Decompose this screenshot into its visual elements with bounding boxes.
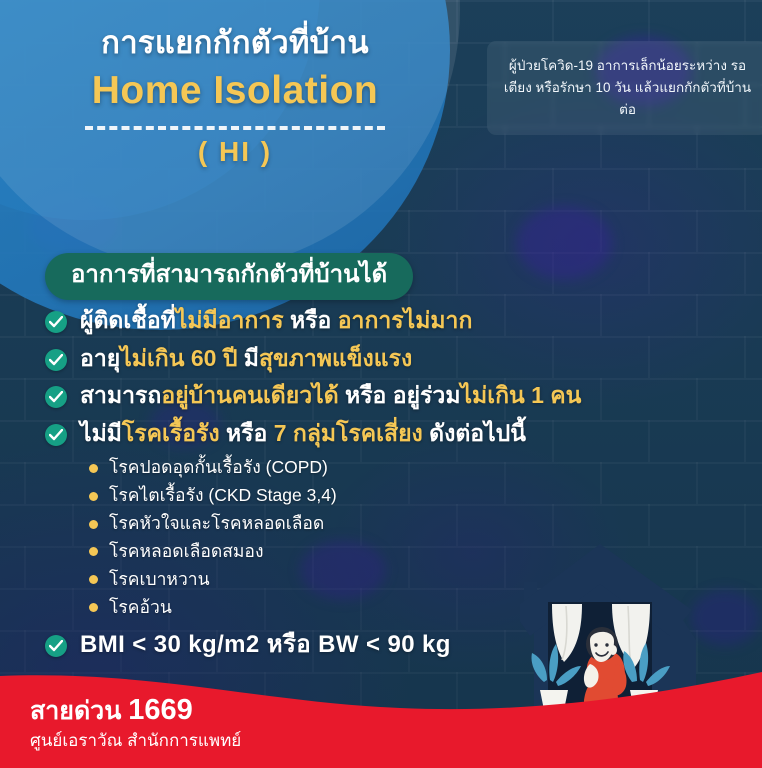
risk-disease-label: โรคอ้วน [109,595,172,621]
risk-disease-item: โรคไตเรื้อรัง (CKD Stage 3,4) [89,483,745,509]
risk-disease-item: โรคหัวใจและโรคหลอดเลือด [89,511,745,537]
hotline-label: สายด่วน [30,697,121,725]
hotline-number[interactable]: 1669 [128,694,193,726]
risk-disease-label: โรคปอดอุดกั้นเรื้อรัง (COPD) [109,455,328,481]
risk-disease-item: โรคอ้วน [89,595,745,621]
criteria-item-no-chronic-disease: ไม่มีโรคเรื้อรัง หรือ 7 กลุ่มโรคเสี่ยง ด… [45,418,745,449]
criteria-text: สามารถอยู่บ้านคนเดียวได้ หรือ อยู่ร่วมไม… [80,380,581,411]
text-segment: มี [237,345,259,371]
page-title-thai: การแยกกักตัวที่บ้าน [0,24,470,63]
infographic-poster: การแยกกักตัวที่บ้าน Home Isolation ( HI … [0,0,762,768]
title-block: การแยกกักตัวที่บ้าน Home Isolation ( HI … [0,24,470,168]
check-circle-icon [45,424,67,446]
organization-name: ศูนย์เอราวัณ สำนักการแพทย์ [30,729,241,753]
criteria-item-bmi: BMI < 30 kg/m2 หรือ BW < 90 kg [45,629,745,661]
criteria-text: ผู้ติดเชื้อที่ไม่มีอาการ หรือ อาการไม่มา… [80,305,472,336]
risk-disease-label: โรคหลอดเลือดสมอง [109,539,264,565]
text-segment: 7 กลุ่มโรคเสี่ยง [274,420,423,446]
criteria-item-age-under-60: อายุไม่เกิน 60 ปี มีสุขภาพแข็งแรง [45,343,745,374]
check-circle-icon [45,635,67,657]
text-segment: ดังต่อไปนี้ [423,420,526,446]
footer-text-block: สายด่วน 1669 ศูนย์เอราวัณ สำนักการแพทย์ [30,692,241,753]
section-heading-pill: อาการที่สามารถกักตัวที่บ้านได้ [45,253,413,300]
check-circle-icon [45,349,67,371]
page-title-abbreviation: ( HI ) [0,136,470,168]
text-segment: อายุ [80,345,120,371]
text-segment: สามารถ [80,382,161,408]
risk-disease-item: โรคปอดอุดกั้นเรื้อรัง (COPD) [89,455,745,481]
title-divider [85,126,385,130]
bullet-dot-icon [89,520,98,529]
criteria-item-no-or-mild-symptoms: ผู้ติดเชื้อที่ไม่มีอาการ หรือ อาการไม่มา… [45,305,745,336]
criteria-checklist: ผู้ติดเชื้อที่ไม่มีอาการ หรือ อาการไม่มา… [45,305,745,668]
text-segment: BMI < 30 kg/m2 หรือ BW < 90 kg [80,631,451,658]
text-segment: ไม่เกิน 60 ปี [120,345,237,371]
check-circle-icon [45,311,67,333]
text-segment: อาการไม่มาก [338,307,473,333]
risk-disease-item: โรคเบาหวาน [89,567,745,593]
text-segment: อยู่บ้านคนเดียวได้ [161,382,338,408]
text-segment: ไม่มีอาการ [176,307,284,333]
text-segment: หรือ [284,307,338,333]
bullet-dot-icon [89,492,98,501]
page-title-english: Home Isolation [0,67,470,116]
hotline-line: สายด่วน 1669 [30,692,241,728]
header-note-box: ผู้ป่วยโควิด-19 อาการเล็กน้อยระหว่าง รอเ… [487,41,762,135]
bullet-dot-icon [89,603,98,612]
criteria-text: BMI < 30 kg/m2 หรือ BW < 90 kg [80,629,451,661]
risk-disease-item: โรคหลอดเลือดสมอง [89,539,745,565]
footer-banner: สายด่วน 1669 ศูนย์เอราวัณ สำนักการแพทย์ [0,668,762,768]
bullet-dot-icon [89,547,98,556]
criteria-item-live-alone-or-one-person: สามารถอยู่บ้านคนเดียวได้ หรือ อยู่ร่วมไม… [45,380,745,411]
bullet-dot-icon [89,575,98,584]
check-circle-icon [45,386,67,408]
risk-disease-list: โรคปอดอุดกั้นเรื้อรัง (COPD)โรคไตเรื้อรั… [89,455,745,620]
criteria-text: อายุไม่เกิน 60 ปี มีสุขภาพแข็งแรง [80,343,412,374]
text-segment: หรือ อยู่ร่วม [339,382,461,408]
text-segment: ผู้ติดเชื้อที่ [80,307,176,333]
risk-disease-label: โรคไตเรื้อรัง (CKD Stage 3,4) [109,483,337,509]
risk-disease-label: โรคหัวใจและโรคหลอดเลือด [109,511,324,537]
risk-disease-label: โรคเบาหวาน [109,567,210,593]
text-segment: ไม่เกิน 1 คน [460,382,581,408]
paint-splatter-3 [516,206,612,280]
text-segment: โรคเรื้อรัง [122,420,220,446]
text-segment: หรือ [220,420,274,446]
criteria-text: ไม่มีโรคเรื้อรัง หรือ 7 กลุ่มโรคเสี่ยง ด… [80,418,526,449]
text-segment: ไม่มี [80,420,122,446]
text-segment: สุขภาพแข็งแรง [259,345,412,371]
bullet-dot-icon [89,464,98,473]
